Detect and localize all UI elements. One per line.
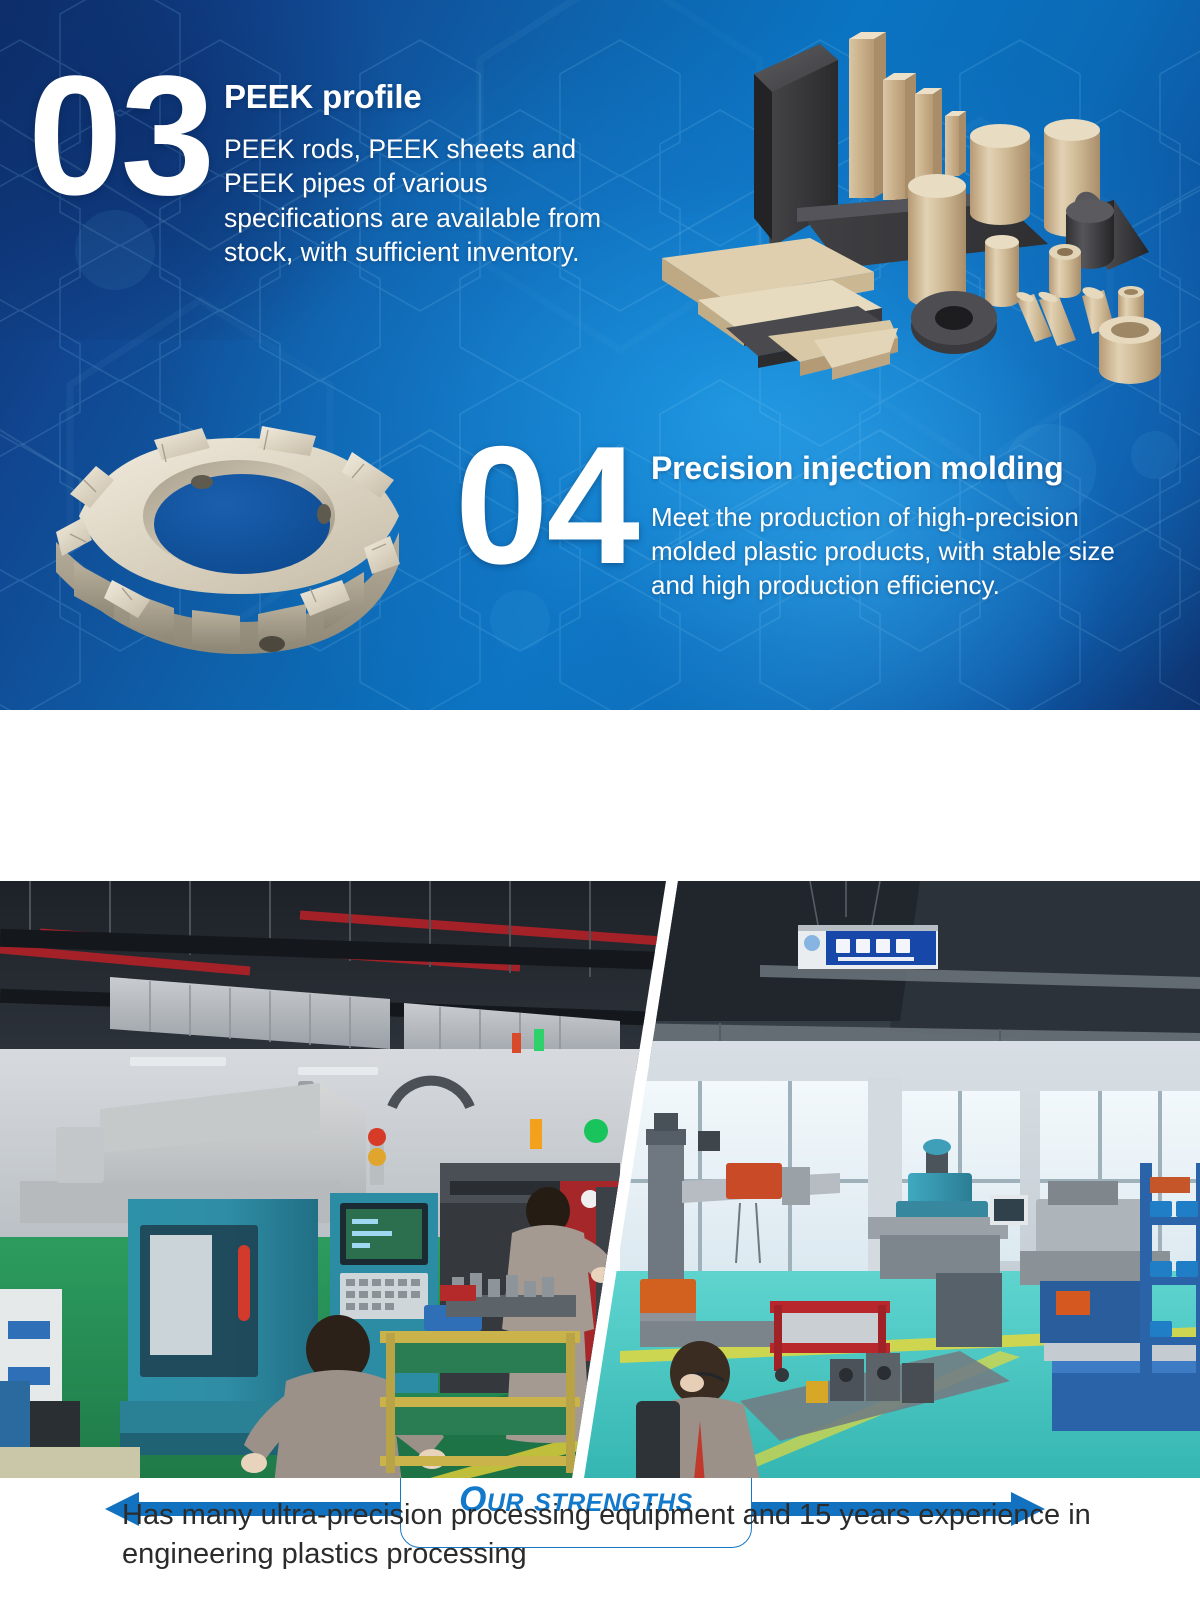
workshop-gallery — [0, 881, 1200, 1478]
feature-block-03: 03 PEEK profile PEEK rods, PEEK sheets a… — [28, 62, 668, 270]
caption-text: Has many ultra-precision processing equi… — [122, 1496, 1132, 1573]
feature-number-04: 04 — [455, 432, 651, 602]
promo-page: 03 PEEK profile PEEK rods, PEEK sheets a… — [0, 0, 1200, 1616]
feature-block-04: 04 Precision injection molding Meet the … — [455, 432, 1175, 602]
feature-number-03: 03 — [28, 62, 224, 270]
feature-body-03: PEEK rods, PEEK sheets and PEEK pipes of… — [224, 132, 654, 270]
blue-workbench — [1044, 1343, 1200, 1431]
hero-section: 03 PEEK profile PEEK rods, PEEK sheets a… — [0, 0, 1200, 710]
peek-gear-ring-photo — [34, 404, 444, 676]
black-ring — [911, 291, 997, 354]
sign-text-en — [838, 957, 914, 961]
tan-square-rods — [849, 32, 966, 200]
gallery-caption: Has many ultra-precision processing equi… — [122, 1496, 1132, 1573]
feature-title-04: Precision injection molding — [651, 450, 1121, 487]
peek-profile-products-photo — [662, 8, 1200, 398]
strengths-divider-section: Our strengths — [0, 710, 1200, 881]
feature-title-03: PEEK profile — [224, 78, 654, 116]
tan-ring-small — [1049, 244, 1081, 298]
feature-body-04: Meet the production of high-precision mo… — [651, 501, 1121, 602]
tan-pipe-large — [1099, 316, 1161, 384]
